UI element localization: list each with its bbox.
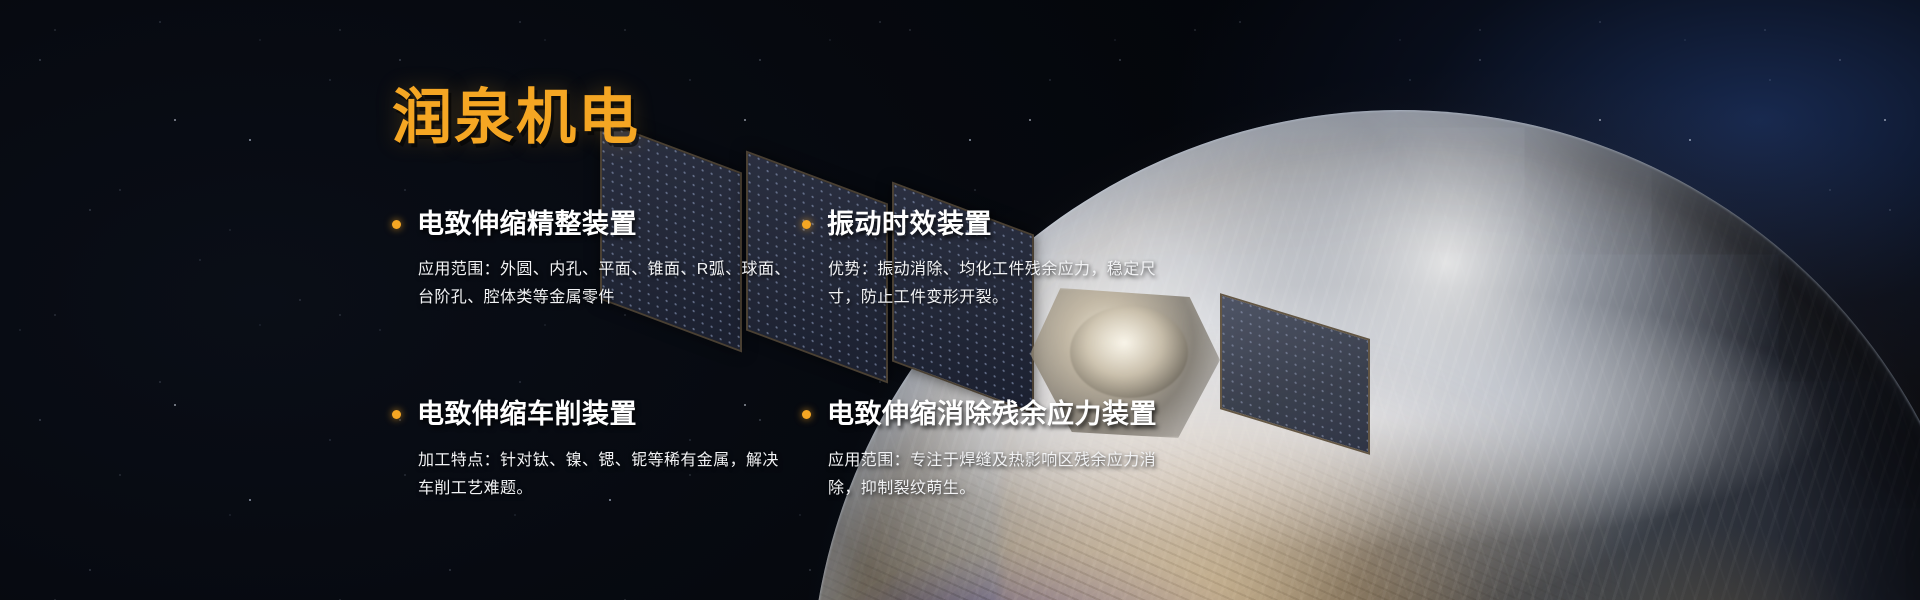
feature-item-2[interactable]: 电致伸缩车削装置 加工特点：针对钛、镍、锶、铌等稀有金属，解决车削工艺难题。 <box>392 398 792 502</box>
feature-body: 应用范围：专注于焊缝及热影响区残余应力消除，抑制裂纹萌生。 <box>828 447 1188 503</box>
bullet-dot-icon <box>802 410 811 419</box>
feature-row: 电致伸缩车削装置 加工特点：针对钛、镍、锶、铌等稀有金属，解决车削工艺难题。 电… <box>392 398 1392 502</box>
bullet-dot-icon <box>392 220 401 229</box>
feature-heading: 电致伸缩精整装置 <box>417 208 637 240</box>
feature-grid: 电致伸缩精整装置 应用范围：外圆、内孔、平面、锥面、R弧、球面、台阶孔、腔体类等… <box>392 208 1392 503</box>
bullet-dot-icon <box>392 410 401 419</box>
bullet-dot-icon <box>802 220 811 229</box>
feature-body: 应用范围：外圆、内孔、平面、锥面、R弧、球面、台阶孔、腔体类等金属零件 <box>418 256 792 312</box>
feature-heading: 电致伸缩车削装置 <box>417 398 637 430</box>
feature-heading-row: 振动时效装置 <box>802 208 1262 240</box>
feature-heading-row: 电致伸缩车削装置 <box>392 398 792 430</box>
feature-item-3[interactable]: 电致伸缩消除残余应力装置 应用范围：专注于焊缝及热影响区残余应力消除，抑制裂纹萌… <box>802 398 1262 502</box>
hero-banner: 润泉机电 电致伸缩精整装置 应用范围：外圆、内孔、平面、锥面、R弧、球面、台阶孔… <box>0 0 1920 600</box>
feature-item-1[interactable]: 振动时效装置 优势：振动消除、均化工件残余应力，稳定尺寸，防止工件变形开裂。 <box>802 208 1262 312</box>
feature-heading-row: 电致伸缩消除残余应力装置 <box>802 398 1262 430</box>
feature-heading: 电致伸缩消除残余应力装置 <box>827 398 1157 430</box>
feature-body: 加工特点：针对钛、镍、锶、铌等稀有金属，解决车削工艺难题。 <box>418 447 792 503</box>
brand-title: 润泉机电 <box>392 88 640 148</box>
feature-row: 电致伸缩精整装置 应用范围：外圆、内孔、平面、锥面、R弧、球面、台阶孔、腔体类等… <box>392 208 1392 312</box>
banner-content: 润泉机电 电致伸缩精整装置 应用范围：外圆、内孔、平面、锥面、R弧、球面、台阶孔… <box>0 0 1920 600</box>
feature-body: 优势：振动消除、均化工件残余应力，稳定尺寸，防止工件变形开裂。 <box>828 256 1188 312</box>
feature-heading: 振动时效装置 <box>827 208 992 240</box>
feature-item-0[interactable]: 电致伸缩精整装置 应用范围：外圆、内孔、平面、锥面、R弧、球面、台阶孔、腔体类等… <box>392 208 792 312</box>
feature-heading-row: 电致伸缩精整装置 <box>392 208 792 240</box>
